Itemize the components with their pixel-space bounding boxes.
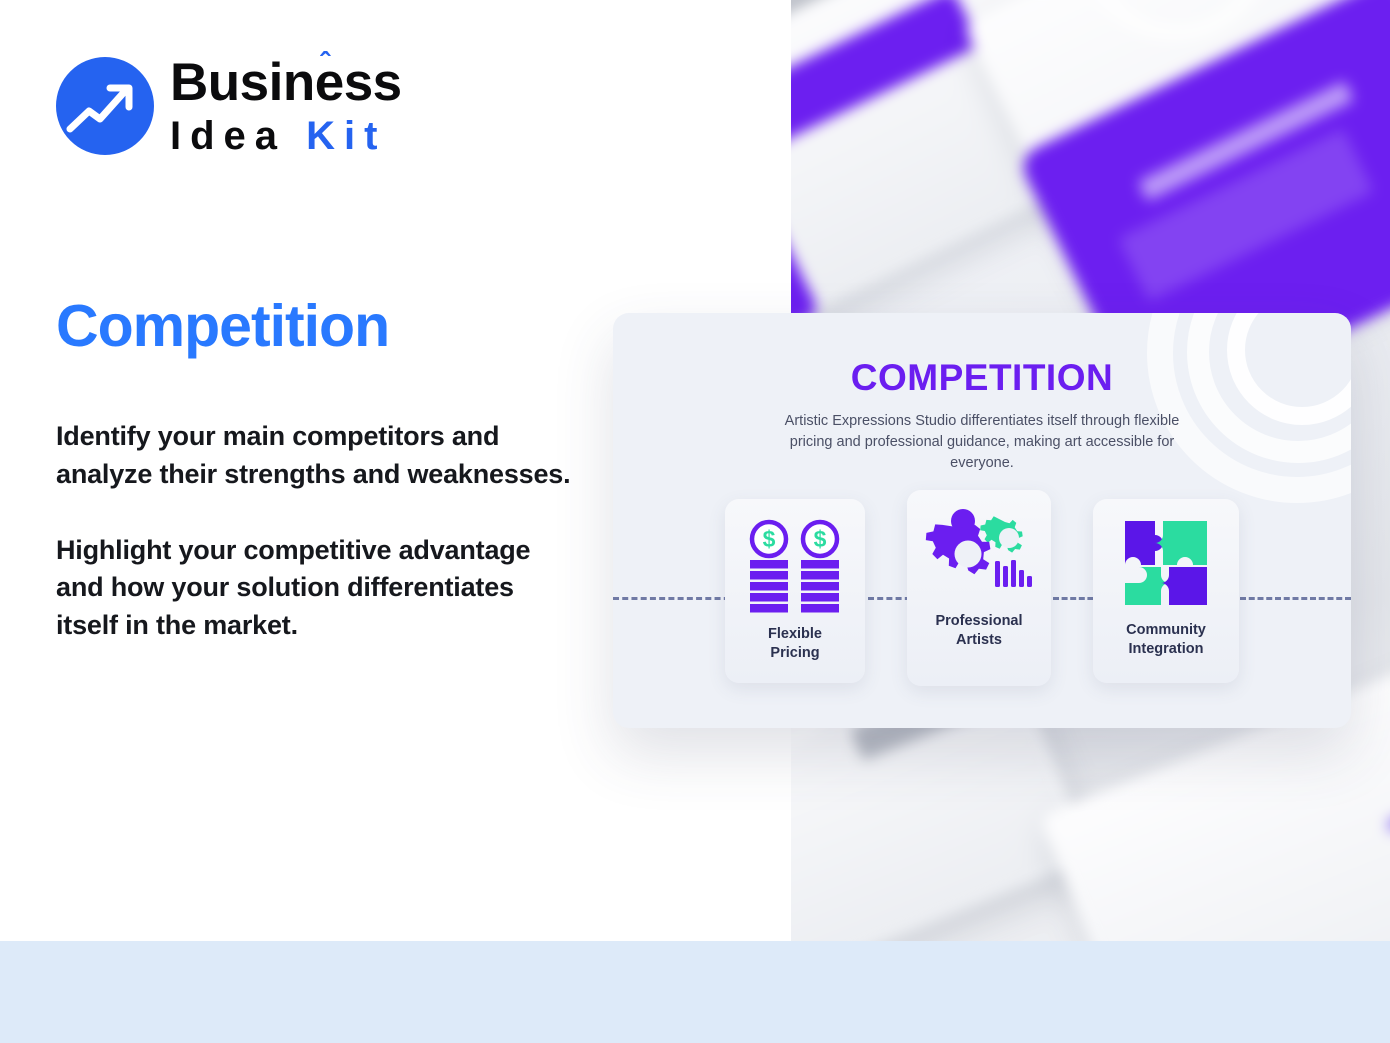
coin-stacks-icon: $ $ <box>743 517 847 617</box>
brand-idea-text: Idea <box>170 114 286 158</box>
feature-label-community-integration: Community Integration <box>1126 621 1206 659</box>
page-title: Competition <box>56 296 389 358</box>
feature-label-line2: Pricing <box>770 645 819 661</box>
footer-bar <box>0 941 1390 1043</box>
feature-label-line2: Integration <box>1129 641 1204 657</box>
brand-name-line1: Business ˆ <box>170 56 402 109</box>
feature-card-flexible-pricing[interactable]: $ $ <box>725 499 865 683</box>
competition-slide-card: COMPETITION Artistic Expressions Studio … <box>613 313 1351 728</box>
brand-logo[interactable]: Business ˆ Idea Kit <box>56 56 402 156</box>
feature-label-line2: Artists <box>956 632 1002 648</box>
slide-page: Business ˆ Idea Kit Competition Identify… <box>0 0 1390 1043</box>
brand-wordmark: Business ˆ Idea Kit <box>170 56 402 156</box>
feature-label-professional-artists: Professional Artists <box>935 612 1022 650</box>
description-paragraph-2: Highlight your competitive advantage and… <box>56 532 576 645</box>
trend-arrow-circle-icon <box>56 57 154 155</box>
brand-name-line2: Idea Kit <box>170 116 402 156</box>
puzzle-pieces-icon <box>1117 513 1215 613</box>
feature-label-flexible-pricing: Flexible Pricing <box>768 625 822 663</box>
feature-label-line1: Flexible <box>768 626 822 642</box>
brand-kit-text: Kit <box>306 114 386 158</box>
caret-accent-icon: ˆ <box>320 49 330 79</box>
brand-name-text: Business <box>170 53 402 112</box>
gears-lightbulb-chart-icon <box>925 504 1033 604</box>
feature-label-line1: Community <box>1126 622 1206 638</box>
feature-card-professional-artists[interactable]: Professional Artists <box>907 490 1051 686</box>
feature-card-row: $ $ <box>613 496 1351 686</box>
feature-card-community-integration[interactable]: Community Integration <box>1093 499 1239 683</box>
description-paragraph-1: Identify your main competitors and analy… <box>56 418 576 494</box>
description-block: Identify your main competitors and analy… <box>56 418 576 645</box>
slide-title: COMPETITION <box>613 357 1351 399</box>
slide-subtitle: Artistic Expressions Studio differentiat… <box>772 411 1192 474</box>
svg-text:$: $ <box>814 526 827 552</box>
svg-text:$: $ <box>763 526 776 552</box>
feature-label-line1: Professional <box>935 613 1022 629</box>
